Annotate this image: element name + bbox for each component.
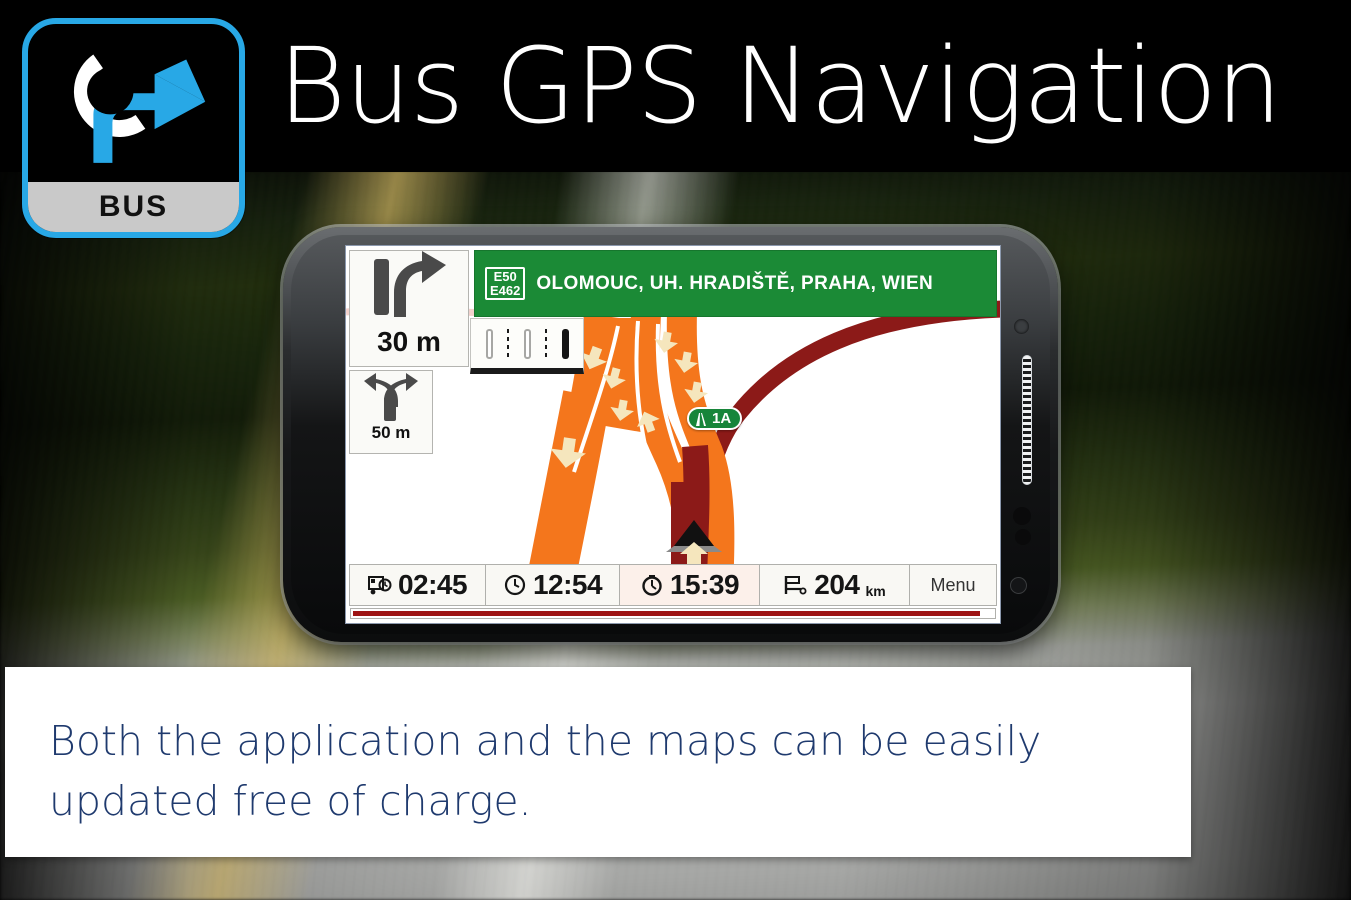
front-camera-icon (1014, 319, 1029, 334)
status-arrival-time[interactable]: 15:39 (620, 565, 760, 605)
bus-time-icon (368, 574, 392, 596)
exit-badge[interactable]: 1A (687, 407, 742, 430)
app-icon-label: BUS (99, 190, 168, 224)
maneuver-panel-primary[interactable]: 30 m (349, 250, 469, 367)
status-current-time[interactable]: 12:54 (486, 565, 620, 605)
route-shield-line-2: E462 (490, 284, 520, 297)
status-remaining-time[interactable]: 02:45 (350, 565, 486, 605)
phone-device: D2 1A E50 E462 OLOMOUC, UH. HRADIŠTĚ, P (283, 227, 1058, 642)
route-progress-fill (353, 611, 980, 616)
navigation-arrow-icon (28, 24, 239, 190)
lane-divider-icon (507, 329, 509, 359)
status-value: 02:45 (398, 569, 467, 601)
exit-badge-label: 1A (712, 410, 731, 427)
motorway-exit-icon (694, 412, 707, 426)
menu-button[interactable]: Menu (910, 565, 996, 605)
promo-screenshot: Bus GPS Navigation BUS (0, 0, 1351, 900)
lane-indicator (486, 329, 493, 359)
sensor-dot-icon (1015, 529, 1031, 545)
navigation-screen: D2 1A E50 E462 OLOMOUC, UH. HRADIŠTĚ, P (345, 245, 1001, 624)
arrival-clock-icon (640, 573, 664, 597)
distance-flag-icon (783, 574, 808, 596)
maneuver-distance-secondary: 50 m (372, 423, 411, 443)
app-icon-artwork (28, 24, 239, 190)
fork-right-icon (350, 371, 432, 423)
destination-list: OLOMOUC, UH. HRADIŠTĚ, PRAHA, WIEN (536, 273, 933, 295)
route-shield: E50 E462 (485, 267, 525, 300)
lane-indicator-active (562, 329, 569, 359)
status-remaining-distance[interactable]: 204 km (760, 565, 910, 605)
maneuver-panel-secondary[interactable]: 50 m (349, 370, 433, 454)
power-button[interactable] (1010, 577, 1027, 594)
status-value: 12:54 (533, 569, 602, 601)
status-unit: km (865, 583, 885, 605)
caption-text: Both the application and the maps can be… (49, 711, 1147, 831)
route-progress-bar[interactable] (350, 608, 996, 619)
maneuver-distance-primary: 30 m (377, 325, 441, 359)
lane-divider-icon (545, 329, 547, 359)
speaker-grille-icon (1022, 355, 1032, 485)
turn-slight-right-icon (350, 251, 468, 325)
status-bar: 02:45 12:54 (349, 564, 997, 606)
caption-panel: Both the application and the maps can be… (5, 667, 1191, 857)
sensor-dot-icon (1013, 507, 1031, 525)
page-title: Bus GPS Navigation (278, 16, 1281, 156)
status-value: 15:39 (670, 569, 739, 601)
lane-indicator (524, 329, 531, 359)
status-value: 204 (814, 569, 859, 601)
menu-button-label: Menu (930, 575, 975, 596)
app-icon[interactable]: BUS (22, 18, 245, 238)
map-canvas[interactable]: D2 1A E50 E462 OLOMOUC, UH. HRADIŠTĚ, P (346, 246, 1000, 623)
lane-guidance (470, 318, 584, 374)
destination-road-sign: E50 E462 OLOMOUC, UH. HRADIŠTĚ, PRAHA, W… (474, 250, 997, 317)
route-shield-line-1: E50 (494, 270, 517, 283)
app-icon-label-bar: BUS (28, 182, 239, 232)
clock-icon (503, 573, 527, 597)
